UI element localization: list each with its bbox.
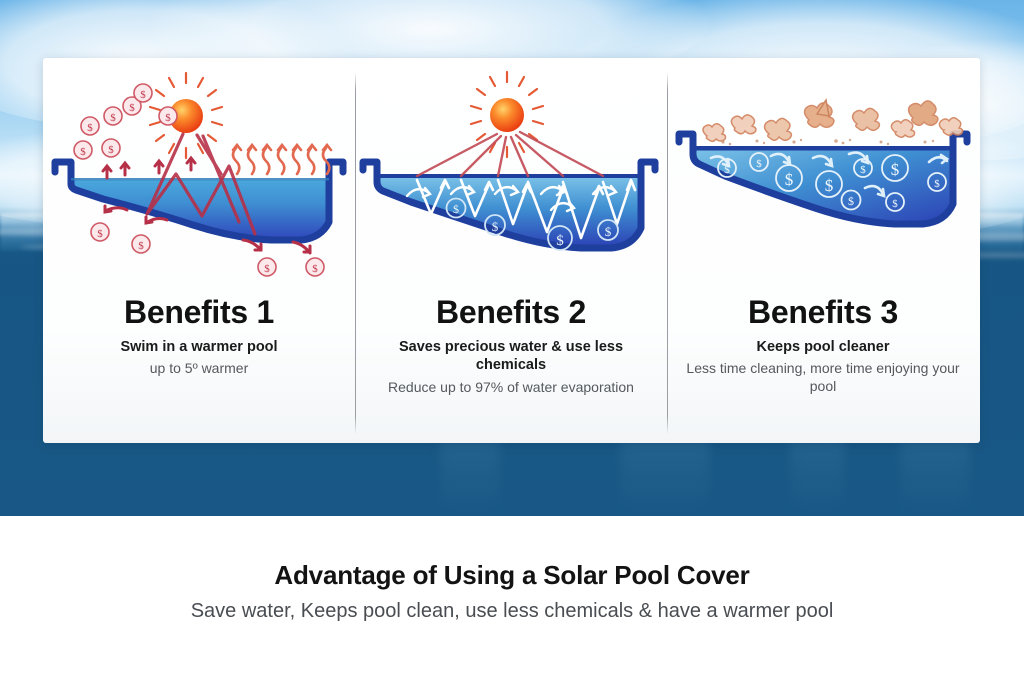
svg-text:$: $ <box>756 158 762 170</box>
footer-title: Advantage of Using a Solar Pool Cover <box>0 560 1024 591</box>
svg-text:$: $ <box>825 176 834 195</box>
leaf-debris-group <box>703 100 963 141</box>
svg-text:$: $ <box>848 194 854 208</box>
svg-text:$: $ <box>264 263 270 275</box>
benefit-number-title: Benefits 3 <box>679 296 967 330</box>
svg-text:$: $ <box>492 219 499 234</box>
evaporation-squiggle-group <box>233 145 331 174</box>
footer-subtitle: Save water, Keeps pool clean, use less c… <box>0 600 1024 623</box>
benefit-description: up to 5º warmer <box>55 359 343 377</box>
benefit-panel-1: $ $ $ $ $ $ $ <box>43 58 355 443</box>
benefit-subtitle: Keeps pool cleaner <box>679 338 967 357</box>
sun-ray-group <box>417 132 603 176</box>
infographic-root: $ $ $ $ $ $ $ <box>0 0 1024 680</box>
sun-icon <box>471 72 543 157</box>
pool-cross-section <box>679 134 967 224</box>
svg-text:$: $ <box>860 164 866 176</box>
svg-text:$: $ <box>556 233 564 249</box>
benefit-2-captions: Benefits 2 Saves precious water & use le… <box>367 296 655 396</box>
benefit-1-captions: Benefits 1 Swim in a warmer pool up to 5… <box>55 296 343 377</box>
benefit-panel-2: $ $ $ $ Benefits 2 Saves precious water … <box>355 58 667 443</box>
benefit-number-title: Benefits 1 <box>55 296 343 330</box>
benefits-card: $ $ $ $ $ $ $ <box>43 58 980 443</box>
benefit-description: Less time cleaning, more time enjoying y… <box>679 359 967 395</box>
svg-text:$: $ <box>724 164 730 176</box>
svg-text:$: $ <box>165 112 171 124</box>
svg-text:$: $ <box>87 122 93 134</box>
svg-text:$: $ <box>108 144 114 156</box>
svg-text:$: $ <box>80 146 86 158</box>
uncovered-pool-heat-loss-illustration: $ $ $ $ $ $ $ <box>43 62 355 290</box>
footer-caption-band: Advantage of Using a Solar Pool Cover Sa… <box>0 516 1024 680</box>
covered-pool-heat-retention-illustration: $ $ $ $ <box>355 62 667 290</box>
benefit-subtitle: Swim in a warmer pool <box>55 338 343 357</box>
covered-pool-debris-protection-illustration: $ $ $ $ $ $ $ $ $ <box>667 62 979 290</box>
svg-text:$: $ <box>892 198 898 210</box>
svg-text:$: $ <box>138 240 144 252</box>
benefit-number-title: Benefits 2 <box>367 296 655 330</box>
svg-text:$: $ <box>129 102 135 114</box>
svg-text:$: $ <box>934 178 940 190</box>
benefit-subtitle: Saves precious water & use less chemical… <box>367 338 655 375</box>
svg-text:$: $ <box>97 228 103 240</box>
benefit-description: Reduce up to 97% of water evaporation <box>367 378 655 396</box>
svg-text:$: $ <box>140 89 146 101</box>
benefit-3-captions: Benefits 3 Keeps pool cleaner Less time … <box>679 296 967 396</box>
svg-text:$: $ <box>605 224 612 239</box>
svg-text:$: $ <box>785 170 794 189</box>
svg-text:$: $ <box>453 202 459 216</box>
debris-speck-group <box>721 139 934 145</box>
svg-text:$: $ <box>110 112 116 124</box>
heat-escape-arrow <box>103 158 195 178</box>
svg-text:$: $ <box>312 263 318 275</box>
svg-text:$: $ <box>891 160 900 179</box>
benefit-panel-3: $ $ $ $ $ $ $ $ $ Benefits 3 Keeps pool … <box>667 58 979 443</box>
